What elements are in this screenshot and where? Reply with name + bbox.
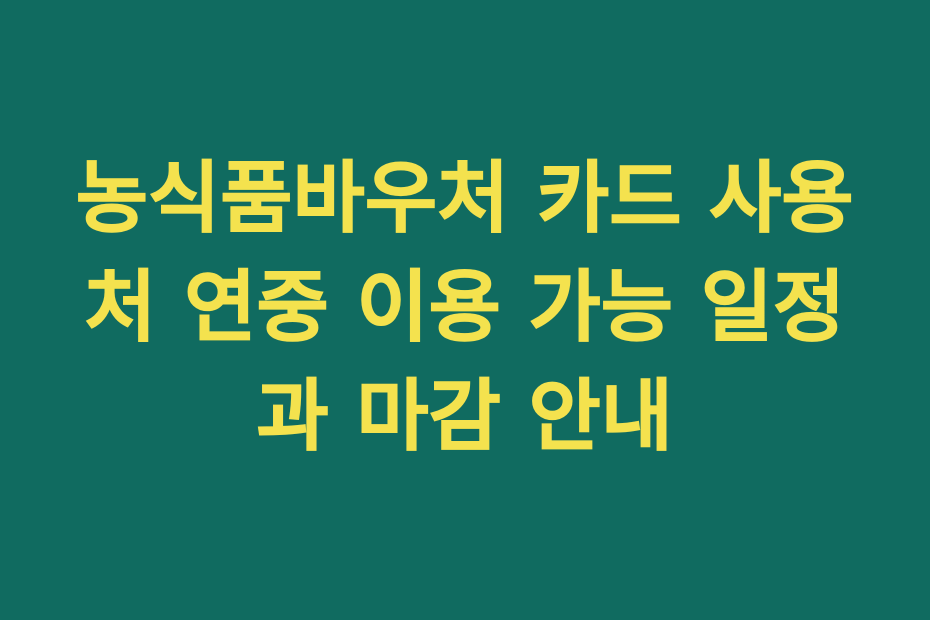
headline-line-1: 농식품바우처 카드 사용 bbox=[40, 145, 890, 254]
headline-line-3: 과 마감 안내 bbox=[40, 363, 890, 472]
headline-line-2: 처 연중 이용 가능 일정 bbox=[40, 254, 890, 363]
title-card: 농식품바우처 카드 사용 처 연중 이용 가능 일정 과 마감 안내 bbox=[0, 0, 930, 620]
headline-block: 농식품바우처 카드 사용 처 연중 이용 가능 일정 과 마감 안내 bbox=[0, 145, 930, 472]
